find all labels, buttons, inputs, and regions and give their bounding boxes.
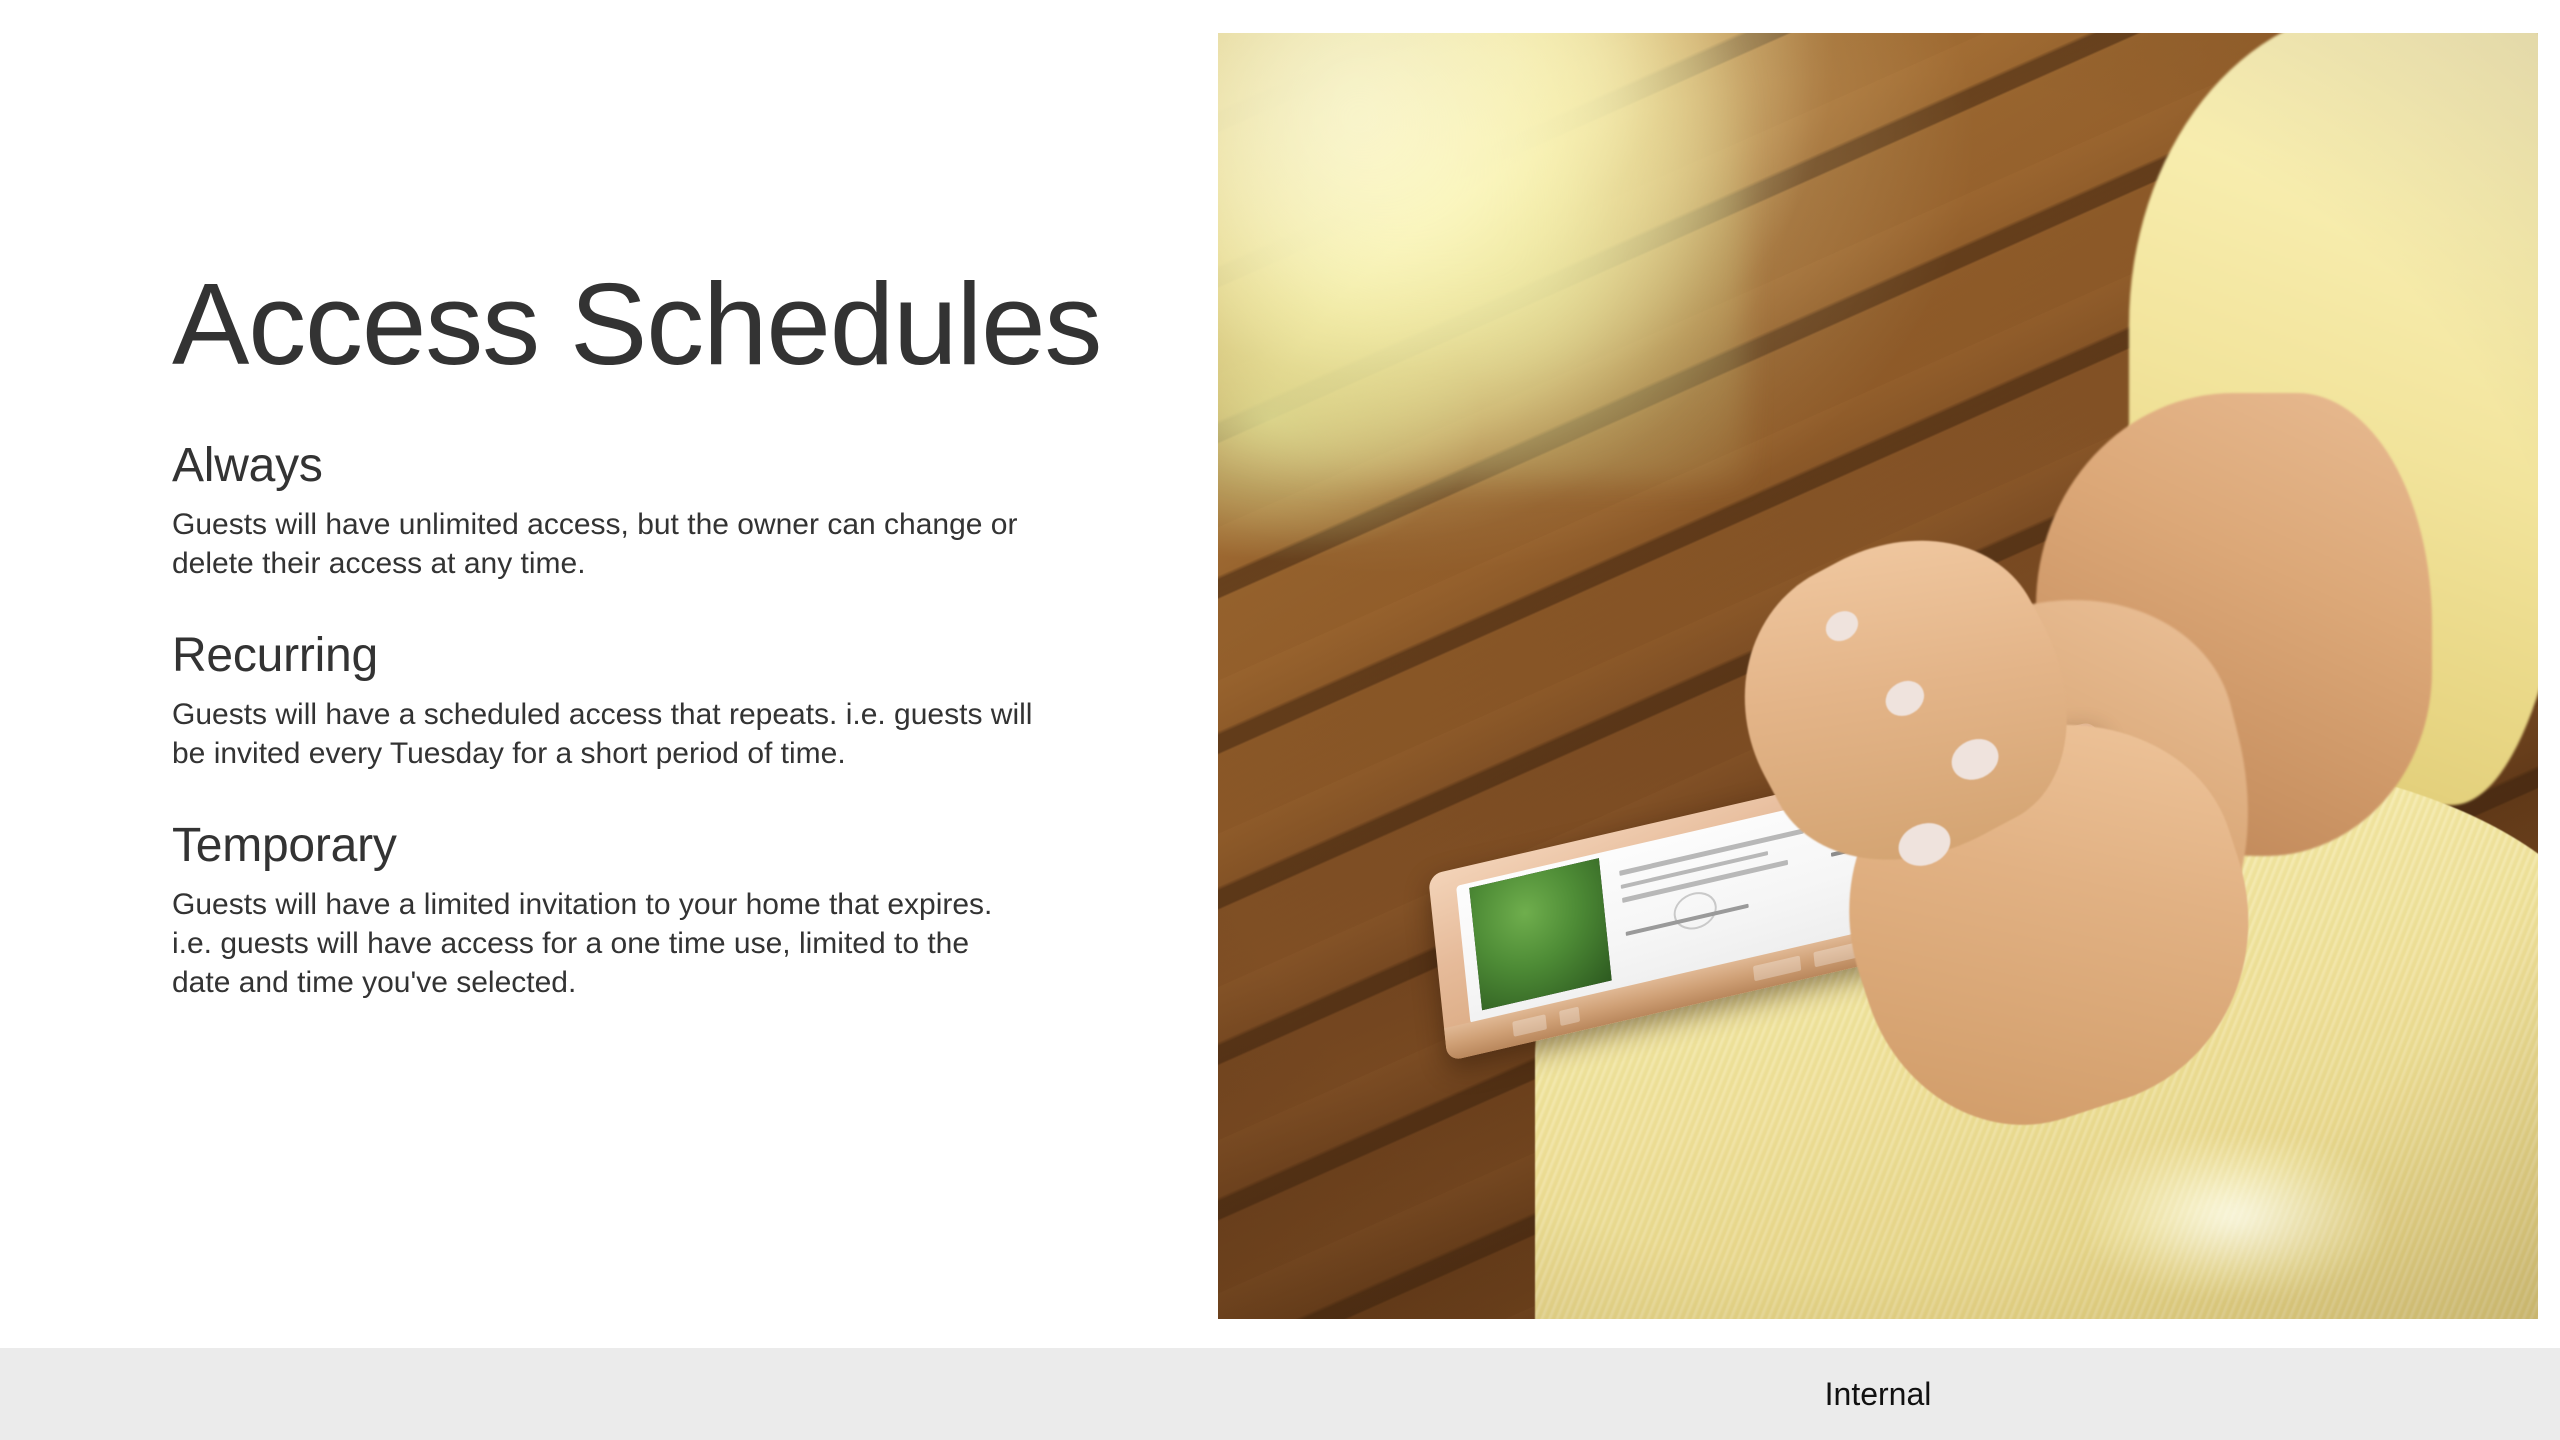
slide-root: Access Schedules Always Guests will have… bbox=[0, 0, 2560, 1440]
footer-classification-label: Internal bbox=[1218, 1375, 2538, 1413]
section-heading-recurring: Recurring bbox=[172, 629, 1052, 683]
content-column: Access Schedules Always Guests will have… bbox=[172, 262, 1052, 1002]
phone-button bbox=[1512, 1015, 1547, 1038]
phone-screen-text-line bbox=[1619, 828, 1804, 875]
section-heading-temporary: Temporary bbox=[172, 819, 1052, 873]
section-body-always: Guests will have unlimited access, but t… bbox=[172, 505, 1034, 583]
section-list: Always Guests will have unlimited access… bbox=[172, 439, 1052, 1001]
section-body-recurring: Guests will have a scheduled access that… bbox=[172, 695, 1034, 773]
photo-bokeh-foliage bbox=[1218, 33, 1746, 483]
section-always: Always Guests will have unlimited access… bbox=[172, 439, 1052, 583]
phone-button bbox=[1753, 956, 1801, 982]
hero-photo bbox=[1218, 33, 2538, 1319]
phone-screen-thumbnail bbox=[1470, 859, 1612, 1010]
section-heading-always: Always bbox=[172, 439, 1052, 493]
section-recurring: Recurring Guests will have a scheduled a… bbox=[172, 629, 1052, 773]
photo-skirt-highlight bbox=[2089, 1139, 2379, 1293]
phone-button bbox=[1559, 1007, 1581, 1026]
section-temporary: Temporary Guests will have a limited inv… bbox=[172, 819, 1052, 1002]
section-body-temporary: Guests will have a limited invitation to… bbox=[172, 885, 1034, 1002]
page-title: Access Schedules bbox=[172, 262, 1052, 387]
